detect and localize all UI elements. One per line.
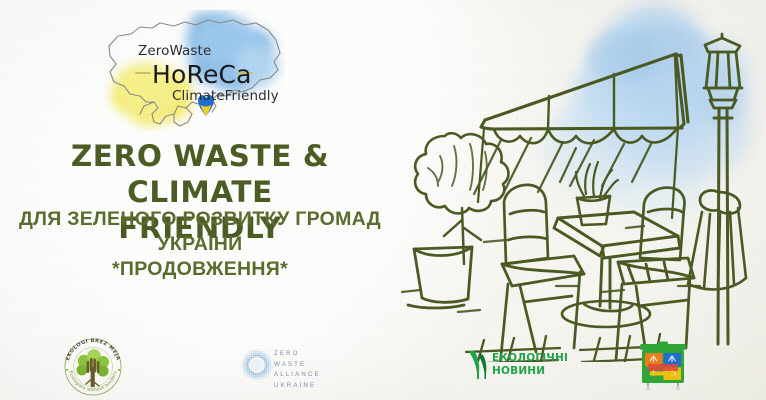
logo-zwa-line-2: WASTE [274,360,360,371]
partner-logo-strip: EKOLOGI BREZ MEJA Ecologists without bor… [0,332,766,400]
headline-line-1: ZERO WASTE & CLIMATE [0,138,400,210]
logo-ekologichni-novyny: ЕКОЛОГІЧНІ НОВИНИ [466,348,578,382]
page-subtitle: ДЛЯ ЗЕЛЕНОГО РОЗВИТКУ ГРОМАД УКРАЇНИ *ПР… [0,207,400,282]
tree-pot [408,247,472,308]
map-logo-text: ZeroWaste HoReCa ClimateFriendly [100,10,285,135]
logo-ekologi-brez-meja: EKOLOGI BREZ MEJA Ecologists without bor… [58,334,128,396]
logo-en-line-1: ЕКОЛОГІЧНІ [492,352,568,365]
logo-zwa-text: ZERO WASTE ALLIANCE UKRAINE [274,349,360,391]
cafe-terrace-illustration [388,0,766,356]
logo-en-text: ЕКОЛОГІЧНІ НОВИНИ [492,352,568,378]
map-logo-line-climate: ClimateFriendly [172,88,279,104]
logo-recycling-bin [634,340,692,392]
logo-zwa-line-3: ALLIANCE UKRAINE [274,370,360,391]
subheadline-line-3: *ПРОДОВЖЕННЯ* [0,257,400,282]
halftone-ring-icon [240,346,274,384]
subheadline-line-1: ДЛЯ ЗЕЛЕНОГО РОЗВИТКУ ГРОМАД [0,207,400,232]
poster-canvas: ZeroWaste HoReCa ClimateFriendly ZERO WA… [0,0,766,400]
logo-en-line-2: НОВИНИ [492,365,568,378]
logo-zero-waste-alliance-ukraine: ZERO WASTE ALLIANCE UKRAINE [240,346,360,384]
zerowaste-horeca-map-logo: ZeroWaste HoReCa ClimateFriendly [100,10,285,135]
table-base [562,301,650,327]
two-trees-icon [466,348,490,380]
map-logo-line-horeca: HoReCa [152,60,252,89]
logo-zwa-line-1: ZERO [274,349,360,360]
recycle-bin-icon [634,340,692,392]
plant-pot [577,196,610,225]
chair-left-seat [502,256,584,286]
potted-tree-sketch [408,133,508,308]
subheadline-line-2: УКРАЇНИ [0,232,400,257]
map-logo-line-zerowaste: ZeroWaste [138,43,211,59]
chair-right-seat [618,258,694,284]
